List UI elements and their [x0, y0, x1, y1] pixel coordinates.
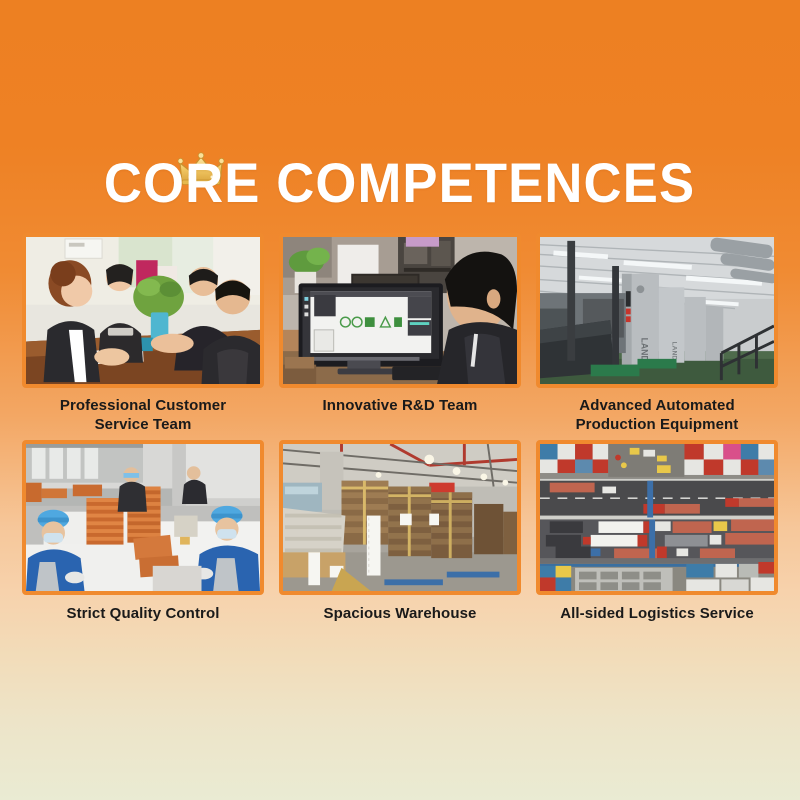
- svg-text:LAND: LAND: [671, 341, 678, 360]
- competence-card-spacious-warehouse[interactable]: Spacious Warehouse: [279, 440, 521, 623]
- competence-card-strict-quality-control[interactable]: Strict Quality Control: [22, 440, 264, 623]
- title-block: CORE COMPETENCES: [0, 152, 800, 214]
- competence-caption: Spacious Warehouse: [279, 604, 521, 623]
- photo-warehouse: [279, 440, 521, 595]
- photo-printing-press: LAND LAND: [536, 233, 778, 388]
- competence-card-innovative-rd-team[interactable]: Innovative R&D Team: [279, 233, 521, 434]
- core-competences-poster: CORE COMPETENCES: [0, 0, 800, 800]
- svg-text:LAND: LAND: [639, 338, 649, 362]
- competence-caption: Innovative R&D Team: [279, 396, 521, 415]
- photo-rd-workstation: [279, 233, 521, 388]
- photo-meeting-room: [22, 233, 264, 388]
- competence-caption: All-sided Logistics Service: [536, 604, 778, 623]
- page-title: CORE COMPETENCES: [104, 152, 695, 214]
- competence-card-professional-customer-service-team[interactable]: Professional Customer Service Team: [22, 233, 264, 434]
- photo-logistics-aerial: [536, 440, 778, 595]
- competence-caption: Strict Quality Control: [22, 604, 264, 623]
- competence-card-advanced-automated-production-equipment[interactable]: LAND LAND: [536, 233, 778, 434]
- competence-caption: Advanced Automated Production Equipment: [536, 396, 778, 434]
- competences-grid: Professional Customer Service Team: [22, 233, 778, 623]
- competence-card-all-sided-logistics-service[interactable]: All-sided Logistics Service: [536, 440, 778, 623]
- photo-quality-control: [22, 440, 264, 595]
- competence-caption: Professional Customer Service Team: [22, 396, 264, 434]
